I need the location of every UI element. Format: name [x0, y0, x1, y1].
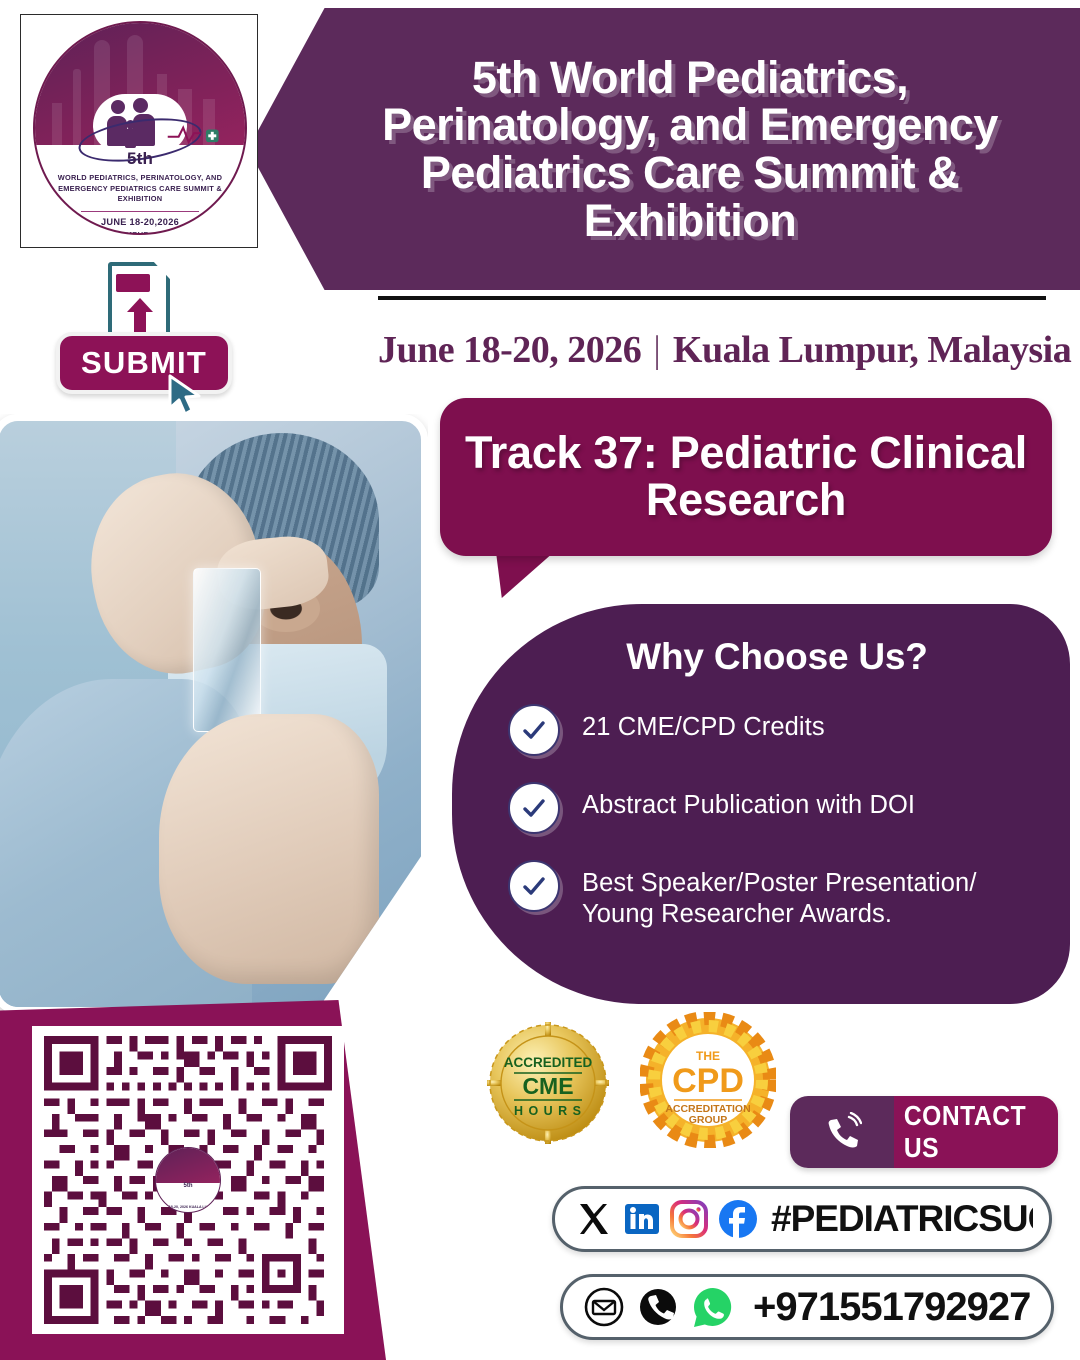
social-handle-pill[interactable]: #PEDIATRICSUCG — [552, 1186, 1052, 1252]
track-bubble-tail — [496, 552, 554, 598]
event-separator: | — [653, 328, 661, 372]
x-twitter-icon[interactable] — [571, 1196, 617, 1242]
logo-edition: 5th — [35, 149, 245, 169]
phone-ringing-icon — [790, 1096, 894, 1168]
linkedin-icon[interactable] — [621, 1198, 663, 1240]
event-location: Kuala Lumpur, Malaysia — [673, 328, 1071, 372]
logo-heartbeat-icon — [167, 124, 223, 144]
conference-logo: 5th WORLD PEDIATRICS, PERINATOLOGY, AND … — [20, 14, 258, 248]
check-circle-icon — [508, 704, 560, 756]
submit-widget[interactable]: SUBMIT — [56, 262, 262, 412]
check-circle-icon — [508, 782, 560, 834]
document-header-bar — [116, 274, 150, 292]
header-banner: 5th World Pediatrics, Perinatology, and … — [248, 8, 1080, 290]
qr-logo-edition: 5th — [156, 1183, 220, 1189]
qr-logo-date: JUNE 18-20, 2026 KUALA LUMPUR — [156, 1205, 220, 1210]
why-item-label: 21 CME/CPD Credits — [582, 704, 825, 743]
mouse-cursor-icon — [168, 374, 206, 416]
cpd-badge-line2: CPD — [672, 1062, 744, 1100]
contact-us-button[interactable]: CONTACT US — [790, 1096, 1058, 1168]
logo-subtitle: WORLD PEDIATRICS, PERINATOLOGY, AND EMER… — [35, 173, 245, 205]
cme-badge-line1: ACCREDITED — [504, 1055, 593, 1070]
contact-us-label: CONTACT US — [904, 1100, 1048, 1164]
logo-city: KUALA LUMPUR, MALAYSIA — [35, 230, 245, 235]
qr-code[interactable]: 5th JUNE 18-20, 2026 KUALA LUMPUR — [32, 1026, 344, 1334]
event-dates: June 18-20, 2026 — [378, 328, 641, 372]
phone-contact-pill[interactable]: +971551792927 — [560, 1274, 1054, 1340]
why-choose-us-panel: Why Choose Us? 21 CME/CPD Credits Abstra… — [452, 604, 1070, 1004]
page-title: 5th World Pediatrics, Perinatology, and … — [248, 54, 1080, 245]
poster-canvas: 5th World Pediatrics, Perinatology, and … — [0, 0, 1080, 1350]
event-datetime-location: June 18-20, 2026 | Kuala Lumpur, Malaysi… — [378, 326, 1046, 374]
logo-date: JUNE 18-20,2026 — [35, 217, 245, 227]
why-item-label: Abstract Publication with DOI — [582, 782, 915, 821]
list-item: 21 CME/CPD Credits — [486, 704, 1042, 756]
instagram-icon[interactable] — [667, 1197, 711, 1241]
cme-badge-line2: CME — [522, 1073, 573, 1099]
check-circle-icon — [508, 860, 560, 912]
contact-us-label-wrap: CONTACT US — [894, 1096, 1058, 1168]
list-item: Best Speaker/Poster Presentation/ Young … — [486, 860, 1042, 930]
logo-divider — [81, 211, 199, 212]
track-banner: Track 37: Pediatric Clinical Research — [440, 398, 1052, 556]
qr-code-canvas: 5th JUNE 18-20, 2026 KUALA LUMPUR — [42, 1036, 334, 1324]
qr-center-logo: 5th JUNE 18-20, 2026 KUALA LUMPUR — [155, 1147, 221, 1213]
date-divider — [378, 296, 1046, 300]
track-title: Track 37: Pediatric Clinical Research — [440, 430, 1052, 524]
logo-circle: 5th WORLD PEDIATRICS, PERINATOLOGY, AND … — [33, 21, 247, 235]
cpd-badge-line1: THE — [696, 1049, 720, 1063]
why-choose-us-heading: Why Choose Us? — [486, 636, 1042, 678]
logo-text-block: 5th WORLD PEDIATRICS, PERINATOLOGY, AND … — [35, 145, 245, 235]
phone-icon[interactable] — [635, 1284, 681, 1330]
social-handle: #PEDIATRICSUCG — [771, 1198, 1033, 1240]
lab-researcher-photo — [0, 414, 428, 1014]
phone-number: +971551792927 — [753, 1285, 1030, 1330]
upload-arrow-icon — [126, 298, 154, 334]
cpd-accreditation-seal: THE CPD ACCREDITATION GROUP — [640, 1012, 776, 1148]
cme-accredited-seal: ACCREDITED CME H O U R S — [487, 1022, 609, 1144]
facebook-icon[interactable] — [715, 1196, 761, 1242]
cme-badge-line3: H O U R S — [514, 1104, 582, 1118]
email-icon[interactable] — [581, 1284, 627, 1330]
whatsapp-icon[interactable] — [689, 1283, 737, 1331]
why-item-label: Best Speaker/Poster Presentation/ Young … — [582, 860, 977, 930]
cpd-badge-line4: GROUP — [689, 1114, 728, 1126]
list-item: Abstract Publication with DOI — [486, 782, 1042, 834]
